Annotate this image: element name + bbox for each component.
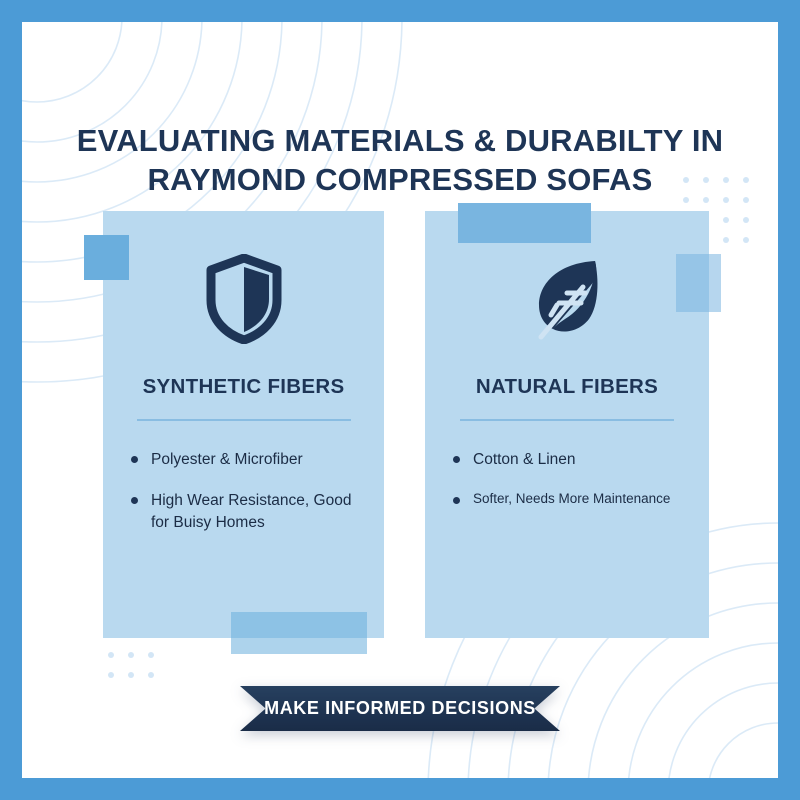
- cards-container: SYNTHETIC FIBERS Polyester & Microfiber …: [22, 22, 778, 778]
- list-item: Softer, Needs More Maintenance: [451, 490, 683, 509]
- accent-tab-right: [458, 203, 591, 243]
- card-heading-synthetic: SYNTHETIC FIBERS: [143, 375, 345, 399]
- shield-icon: [203, 253, 285, 345]
- poster-canvas: EVALUATING MATERIALS & DURABILTY IN RAYM…: [22, 22, 778, 778]
- accent-square-left: [84, 235, 129, 280]
- list-item: High Wear Resistance, Good for Buisy Hom…: [129, 490, 358, 533]
- list-item: Polyester & Microfiber: [129, 449, 358, 470]
- leaf-icon: [526, 253, 608, 345]
- bullet-list-synthetic: Polyester & Microfiber High Wear Resista…: [129, 449, 358, 553]
- card-natural-fibers[interactable]: NATURAL FIBERS Cotton & Linen Softer, Ne…: [425, 211, 709, 638]
- ribbon-label: MAKE INFORMED DECISIONS: [264, 698, 536, 719]
- bullet-list-natural: Cotton & Linen Softer, Needs More Mainte…: [451, 449, 683, 529]
- infographic-poster: EVALUATING MATERIALS & DURABILTY IN RAYM…: [0, 0, 800, 800]
- accent-bar-left-bottom: [231, 612, 367, 654]
- card-heading-natural: NATURAL FIBERS: [476, 375, 658, 399]
- ribbon-banner[interactable]: MAKE INFORMED DECISIONS: [240, 686, 560, 731]
- card-divider-natural: [460, 419, 674, 421]
- card-divider-synthetic: [137, 419, 351, 421]
- card-synthetic-fibers[interactable]: SYNTHETIC FIBERS Polyester & Microfiber …: [103, 211, 384, 638]
- accent-square-right: [676, 254, 721, 312]
- list-item: Cotton & Linen: [451, 449, 683, 470]
